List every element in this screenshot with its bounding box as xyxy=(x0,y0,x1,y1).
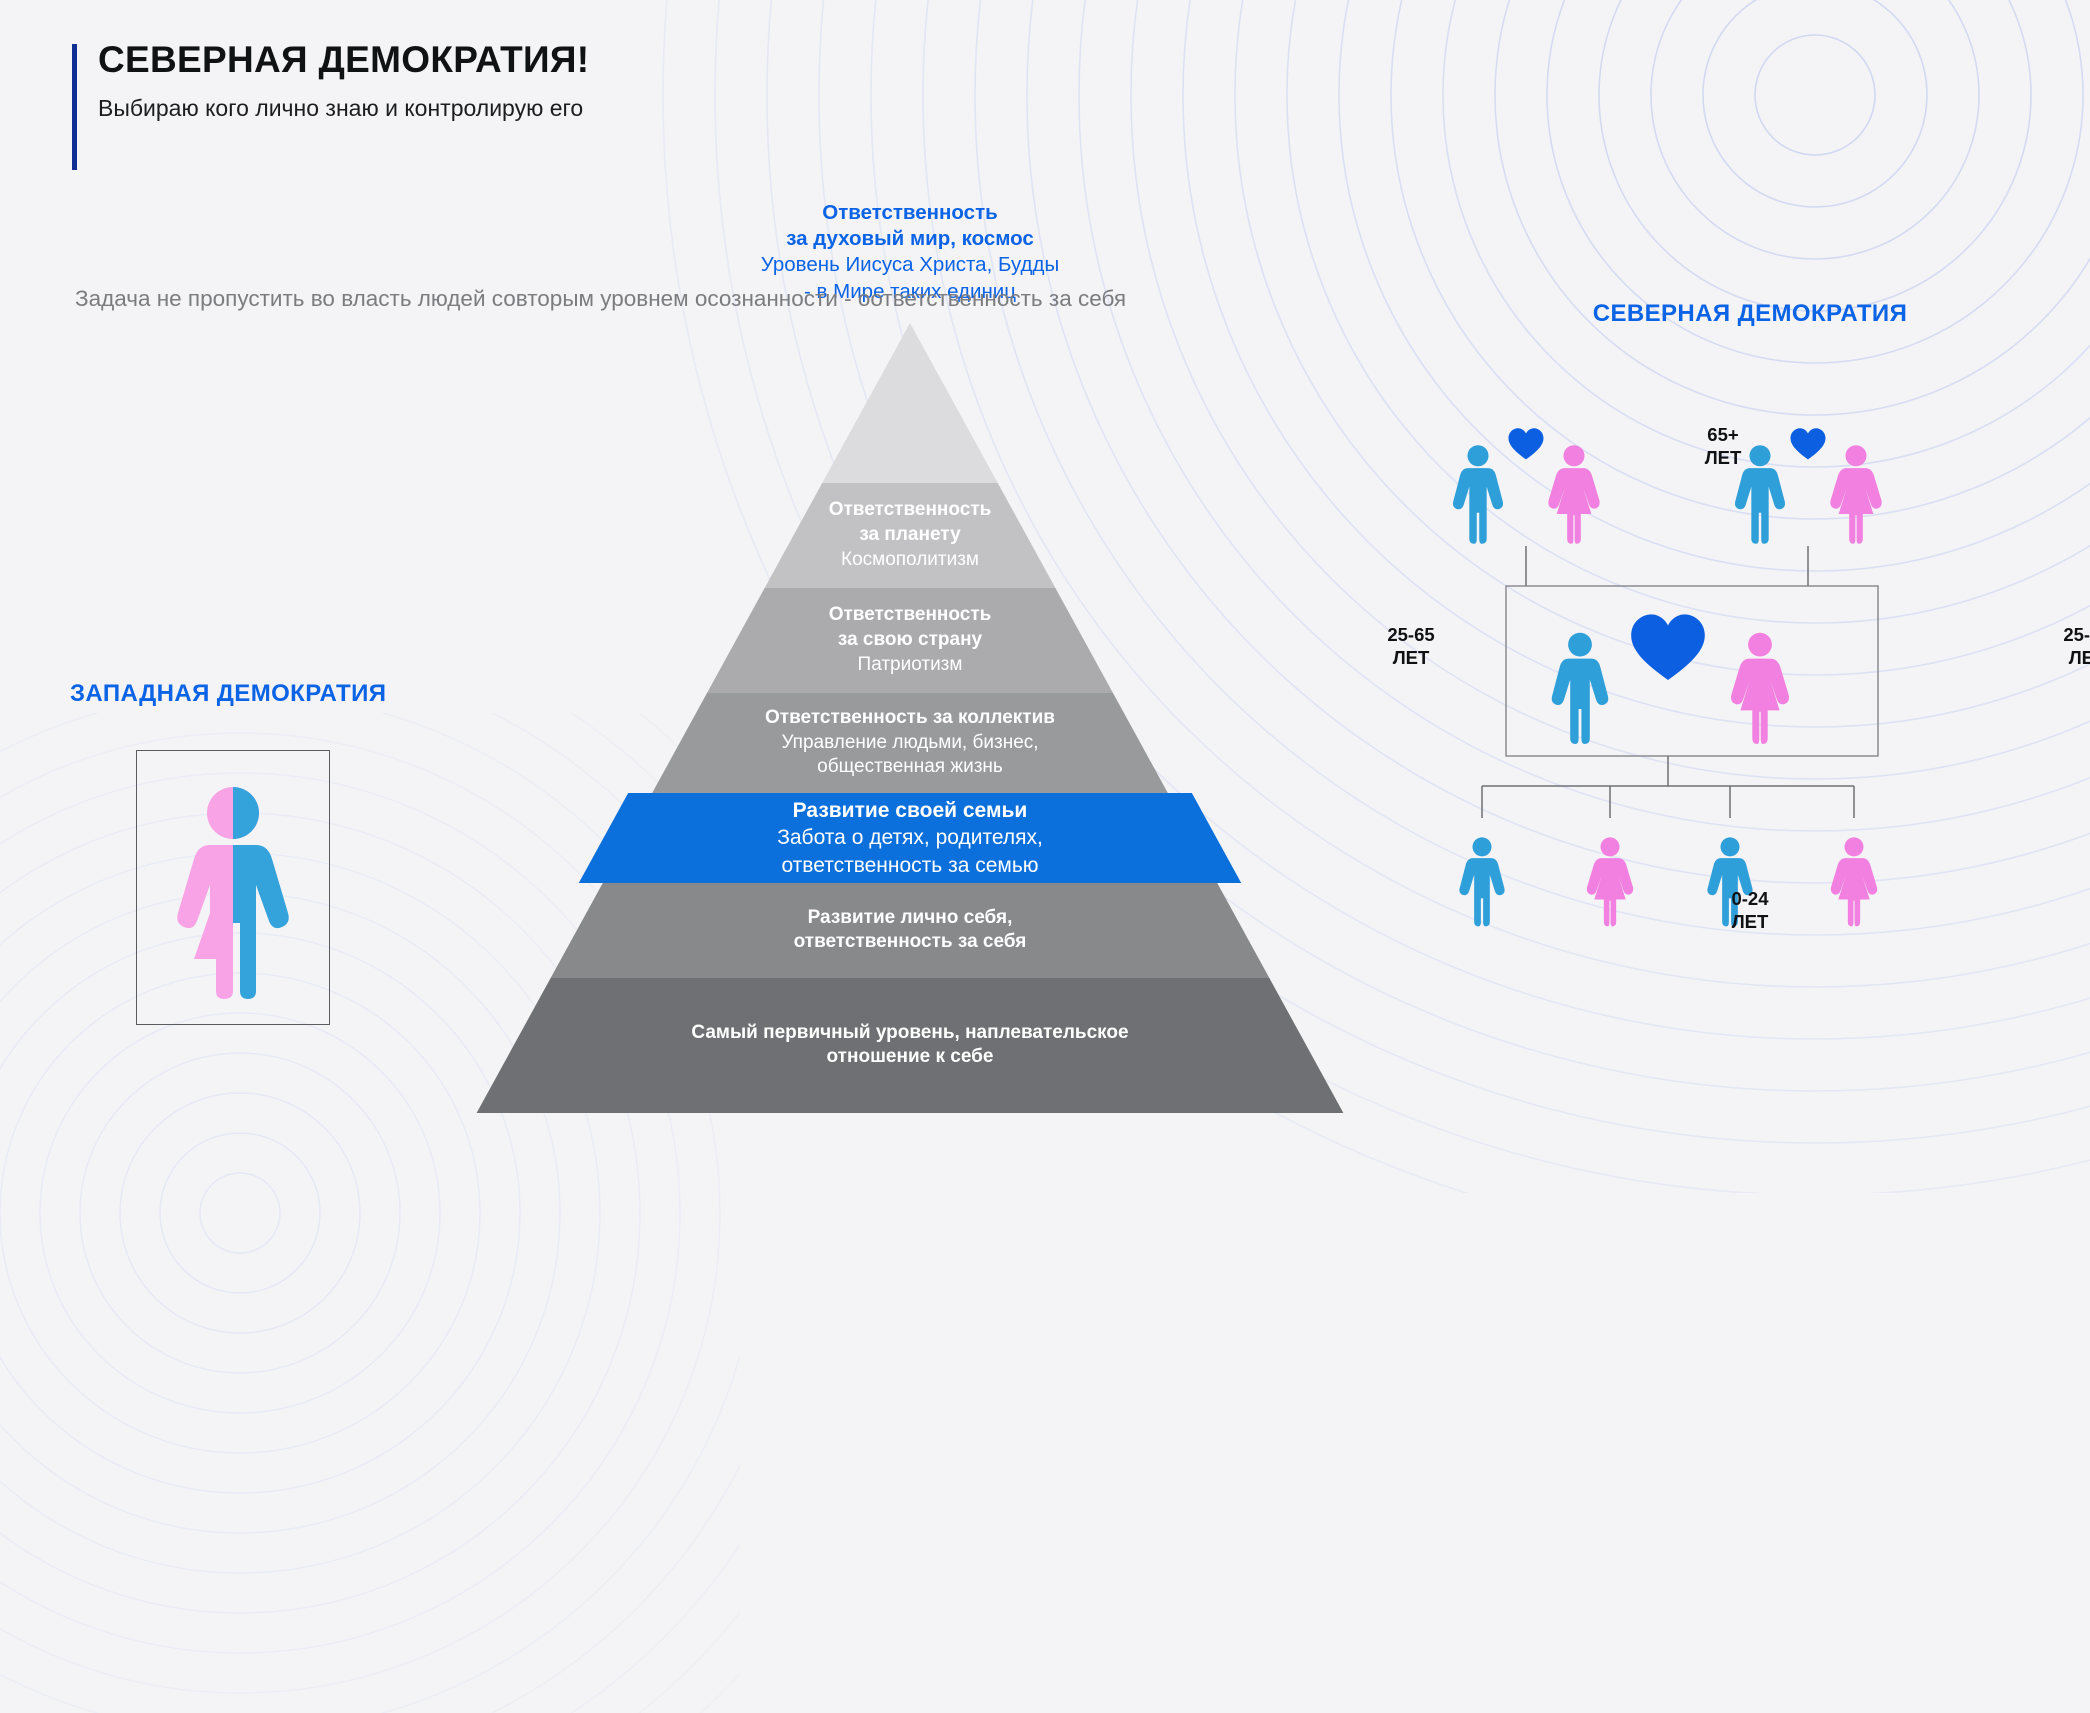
person-head xyxy=(1563,445,1584,466)
pyramid-level-desc-line: ответственность за семью xyxy=(781,852,1038,879)
person-body xyxy=(1453,468,1503,544)
person-body xyxy=(1735,468,1785,544)
person-body xyxy=(1587,858,1633,926)
consciousness-pyramid: Ответственностьза планетуКосмополитизмОт… xyxy=(470,323,1350,1113)
pyramid-level-label-self: Развитие лично себя,ответственность за с… xyxy=(470,883,1350,978)
pyramid-section: Ответственность за духовый мир, космос У… xyxy=(470,200,1350,1190)
person-head xyxy=(1467,445,1488,466)
pyramid-caption-line1: Ответственность xyxy=(470,200,1350,226)
person-head xyxy=(1844,837,1863,856)
split-gender-person-icon xyxy=(158,773,308,1003)
elder-grandfather-left[interactable] xyxy=(1453,445,1503,544)
age-label-parents-right: 25-65 ЛЕТ xyxy=(2044,624,2090,669)
pyramid-level-label-family: Развитие своей семьиЗабота о детях, роди… xyxy=(470,793,1350,883)
page-title: СЕВЕРНАЯ ДЕМОКРАТИЯ! xyxy=(98,40,589,80)
pyramid-level-title-line: Развитие лично себя, xyxy=(808,906,1013,931)
family-tree: 65+ ЛЕТ 25-65 ЛЕТ 25-65 ЛЕТ 0-24 ЛЕТ xyxy=(1440,376,2060,936)
person-body xyxy=(1552,659,1609,744)
pyramid-level-label-primal: Самый первичный уровень, наплевательское… xyxy=(470,978,1350,1113)
pyramid-level-desc-line: Космополитизм xyxy=(841,548,979,573)
person-body xyxy=(1459,858,1504,926)
person-head xyxy=(1720,837,1739,856)
pyramid-level-apex[interactable] xyxy=(822,323,998,483)
page-subtitle: Выбираю кого лично знаю и контролирую ег… xyxy=(98,93,589,123)
person-head xyxy=(1472,837,1491,856)
pyramid-level-desc-line: Патриотизм xyxy=(858,653,963,678)
pyramid-level-desc-line: Забота о детях, родителях, xyxy=(777,824,1043,851)
pyramid-level-title-line: Ответственность за коллектив xyxy=(765,706,1055,731)
pyramid-level-title-line: Развитие своей семьи xyxy=(793,797,1028,824)
western-democracy-block: ЗАПАДНАЯ ДЕМОКРАТИЯ xyxy=(70,680,386,1025)
person-body xyxy=(1548,468,1599,544)
header-block: СЕВЕРНАЯ ДЕМОКРАТИЯ! Выбираю кого лично … xyxy=(72,40,589,123)
pyramid-level-title-line: ответственность за себя xyxy=(794,930,1027,955)
pyramid-level-title-line: за планету xyxy=(859,523,960,548)
pyramid-level-label-planet: Ответственностьза планетуКосмополитизм xyxy=(470,483,1350,588)
pyramid-level-title-line: Ответственность xyxy=(829,603,992,628)
pyramid-caption-line2: за духовый мир, космос xyxy=(470,226,1350,252)
northern-democracy-title: СЕВЕРНАЯ ДЕМОКРАТИЯ xyxy=(1440,300,2060,328)
header-accent-bar xyxy=(72,44,77,170)
age-label-elders: 65+ ЛЕТ xyxy=(1678,424,1768,469)
pyramid-level-title-line: за свою страну xyxy=(838,628,982,653)
parent-father[interactable] xyxy=(1552,633,1609,744)
pyramid-level-title-line: отношение к себе xyxy=(827,1045,994,1070)
pyramid-level-label-collective: Ответственность за коллективУправление л… xyxy=(470,693,1350,793)
western-democracy-figure-box xyxy=(136,750,330,1025)
person-head xyxy=(1845,445,1866,466)
person-head xyxy=(1600,837,1619,856)
person-body xyxy=(1831,858,1877,926)
lede-paragraph: Задача не пропустить во власть людей сов… xyxy=(75,282,1126,316)
elder-grandmother-right[interactable] xyxy=(1830,445,1881,544)
parent-mother[interactable] xyxy=(1731,633,1789,744)
elder-grandmother-left[interactable] xyxy=(1548,445,1599,544)
age-label-children: 0-24 ЛЕТ xyxy=(1705,888,1795,933)
child-daughter-2[interactable] xyxy=(1831,837,1877,926)
pyramid-level-title-line: Ответственность xyxy=(829,498,992,523)
northern-democracy-block: СЕВЕРНАЯ ДЕМОКРАТИЯ 65+ ЛЕТ 25-65 ЛЕТ 25… xyxy=(1440,300,2060,936)
child-son-1[interactable] xyxy=(1459,837,1504,926)
pyramid-level-title-line: Самый первичный уровень, наплевательское xyxy=(691,1021,1128,1046)
pyramid-level-label-country: Ответственностьза свою странуПатриотизм xyxy=(470,588,1350,693)
pyramid-level-desc-line: общественная жизнь xyxy=(817,755,1003,780)
person-head xyxy=(1748,633,1772,657)
heart-icon-elders-right xyxy=(1791,428,1826,459)
person-body xyxy=(1830,468,1881,544)
pyramid-caption-line3: Уровень Иисуса Христа, Будды xyxy=(470,252,1350,278)
person-body xyxy=(1731,659,1789,744)
heart-icon-elders-left xyxy=(1509,428,1544,459)
heart-icon-parents xyxy=(1631,614,1705,680)
age-label-parents-left: 25-65 ЛЕТ xyxy=(1368,624,1454,669)
western-democracy-title: ЗАПАДНАЯ ДЕМОКРАТИЯ xyxy=(70,680,386,708)
person-head xyxy=(1568,633,1592,657)
child-daughter-1[interactable] xyxy=(1587,837,1633,926)
pyramid-level-desc-line: Управление людьми, бизнес, xyxy=(781,731,1038,756)
